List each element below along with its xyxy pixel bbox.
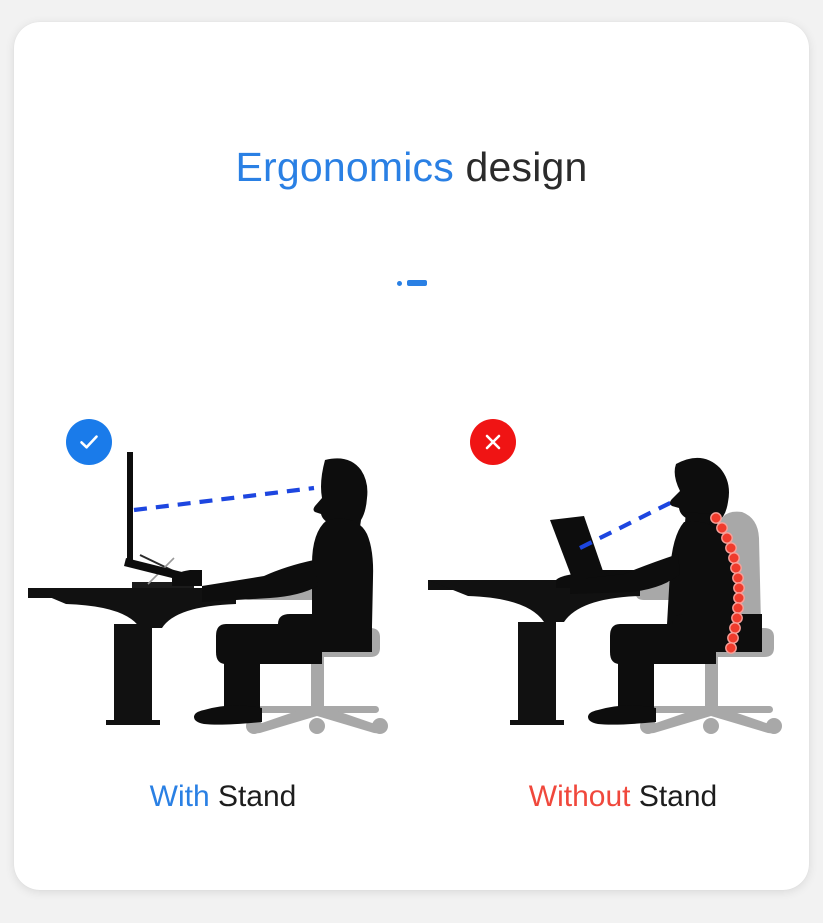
panel-with-stand: With Stand [28, 402, 418, 862]
subtitle-mark [14, 280, 809, 286]
illustration-with-stand [28, 442, 418, 742]
blue-dash-icon [407, 280, 427, 286]
page-title-plain: design [454, 144, 588, 190]
caption-accent: With [150, 780, 210, 813]
caption-plain: Stand [630, 780, 717, 813]
page-title: Ergonomics design [14, 144, 809, 191]
page-title-accent: Ergonomics [235, 144, 453, 190]
sight-line [134, 488, 314, 510]
caption-with-stand: With Stand [28, 780, 418, 814]
ergonomics-card: Ergonomics design [14, 22, 809, 890]
caption-without-stand: Without Stand [428, 780, 818, 814]
desk [428, 580, 640, 725]
person-silhouette [172, 458, 373, 724]
caption-plain: Stand [210, 780, 297, 813]
caption-accent: Without [529, 780, 631, 813]
panel-without-stand: Without Stand [428, 402, 818, 862]
illustration-without-stand [428, 442, 818, 742]
sight-line [580, 502, 672, 548]
blue-dot-icon [397, 281, 402, 286]
desk [28, 588, 236, 725]
